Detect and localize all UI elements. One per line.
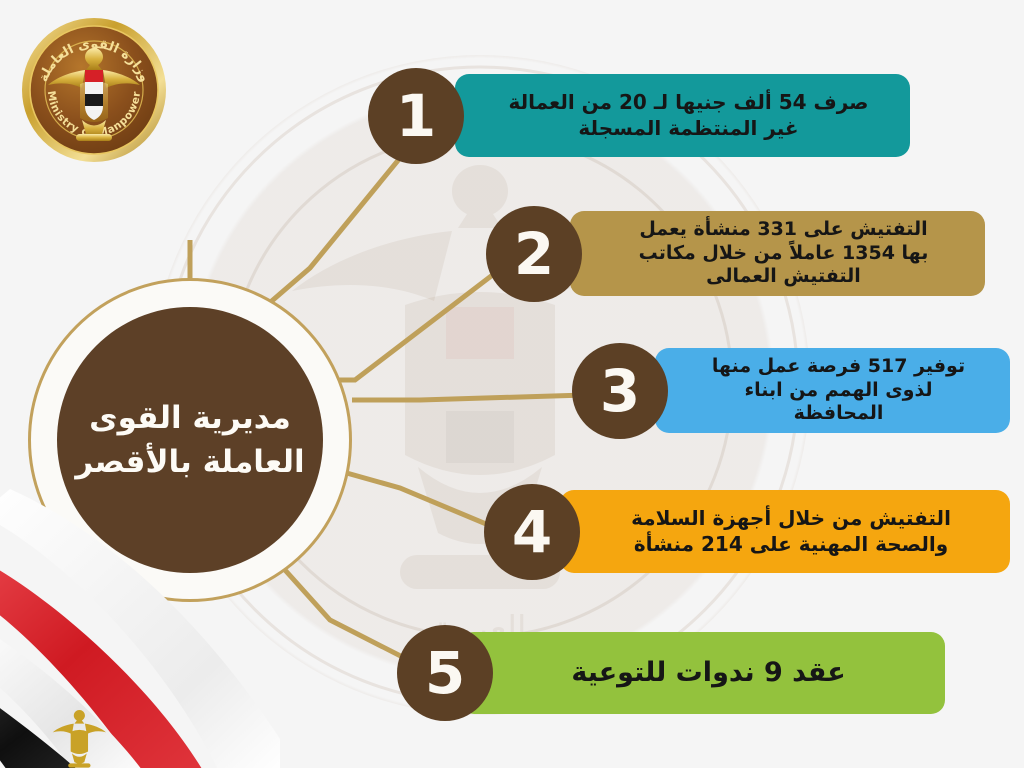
ministry-logo[interactable]: وزارة القوى العاملة Ministry of Manpower	[18, 14, 170, 166]
item-bar-4[interactable]: التفتيش من خلال أجهزة السلامة والصحة الم…	[560, 490, 1010, 573]
item-text-1: صرف 54 ألف جنيها لـ 20 من العمالة غير ال…	[455, 84, 910, 146]
infographic-poster: العربية مديرية القوى العاملة بالأقصر صرف…	[0, 0, 1024, 768]
item-badge-1[interactable]: 1	[368, 68, 464, 164]
item-number-4: 4	[512, 503, 552, 561]
hub-title: مديرية القوى العاملة بالأقصر	[59, 396, 320, 484]
item-text-5: عقد 9 ندوات للتوعية	[460, 650, 945, 696]
item-number-1: 1	[396, 87, 436, 145]
item-text-2: التفتيش على 331 منشأة يعمل بها 1354 عامل…	[570, 214, 985, 294]
item-bar-2[interactable]: التفتيش على 331 منشأة يعمل بها 1354 عامل…	[570, 211, 985, 296]
item-text-3: توفير 517 فرصة عمل منها لذوى الهمم من اب…	[655, 351, 1010, 431]
item-text-4: التفتيش من خلال أجهزة السلامة والصحة الم…	[560, 500, 1010, 562]
item-number-3: 3	[600, 362, 640, 420]
hub-circle[interactable]: مديرية القوى العاملة بالأقصر	[57, 307, 323, 573]
item-badge-3[interactable]: 3	[572, 343, 668, 439]
item-bar-1[interactable]: صرف 54 ألف جنيها لـ 20 من العمالة غير ال…	[455, 74, 910, 157]
item-number-2: 2	[514, 225, 554, 283]
item-number-5: 5	[425, 644, 465, 702]
item-badge-2[interactable]: 2	[486, 206, 582, 302]
item-badge-5[interactable]: 5	[397, 625, 493, 721]
item-badge-4[interactable]: 4	[484, 484, 580, 580]
item-bar-3[interactable]: توفير 517 فرصة عمل منها لذوى الهمم من اب…	[655, 348, 1010, 433]
item-bar-5[interactable]: عقد 9 ندوات للتوعية	[460, 632, 945, 714]
